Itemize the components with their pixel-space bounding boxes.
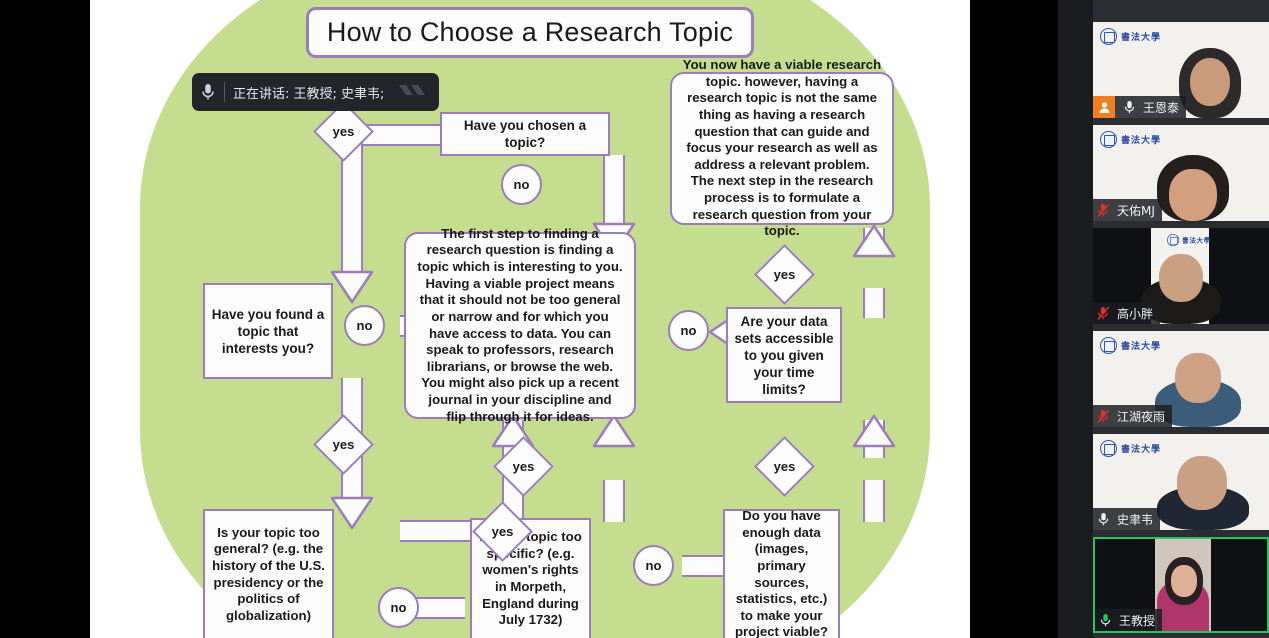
decision-label: yes <box>504 447 543 486</box>
participant-namebar: 王恩泰 <box>1093 96 1186 118</box>
seal-icon <box>1167 234 1179 246</box>
participant-namebar: 江湖夜雨 <box>1093 405 1172 427</box>
participant-face <box>1177 456 1227 510</box>
participant-namebar: 王教授 <box>1095 609 1162 631</box>
node-have-you-chosen-a-topic: Have you chosen a topic? <box>440 112 610 156</box>
active-speaker-overlay: 正在讲话: 王教授; 史聿韦; <box>192 73 439 111</box>
participant-name: 天佑MJ <box>1117 202 1155 219</box>
participant-face <box>1159 254 1203 302</box>
participant-tile[interactable]: 書法大學 史聿韦 <box>1093 434 1269 530</box>
connector-yes-specific-up <box>603 480 625 522</box>
participant-filmstrip[interactable]: 書法大學 王恩泰 書法大學 <box>1058 0 1269 638</box>
decision-label: yes <box>765 447 804 486</box>
microphone-icon[interactable] <box>1093 508 1113 530</box>
seal-icon <box>1100 131 1117 148</box>
logo-text: 書法大學 <box>1121 442 1161 455</box>
sound-wave-icon <box>397 81 431 104</box>
decision-label: yes <box>483 512 522 551</box>
logo-text: 書法大學 <box>1121 339 1161 352</box>
overlay-divider <box>224 82 225 102</box>
decision-label: yes <box>324 112 363 151</box>
microphone-icon[interactable] <box>1119 96 1139 118</box>
connector-datasets-up <box>863 288 885 318</box>
microphone-muted-icon[interactable] <box>1093 199 1113 221</box>
participant-namebar: 史聿韦 <box>1093 508 1160 530</box>
participant-face <box>1175 353 1221 403</box>
decision-no-found-topic: no <box>344 305 385 346</box>
seal-icon <box>1100 28 1117 45</box>
connector-enough-to-yes <box>863 480 885 522</box>
participant-face <box>1171 565 1197 597</box>
host-badge-icon <box>1093 96 1115 118</box>
decision-no-too-specific: no <box>633 545 674 586</box>
decision-label: yes <box>324 425 363 464</box>
participant-name: 王恩泰 <box>1143 99 1179 116</box>
participant-namebar: 天佑MJ <box>1093 199 1162 221</box>
node-are-your-data-sets-accessible: Are your data sets accessible to you giv… <box>726 307 842 403</box>
participant-face <box>1169 169 1217 221</box>
node-first-step-description: The first step to finding a research que… <box>404 232 636 419</box>
university-logo-icon: 書法大學 <box>1100 28 1161 45</box>
decision-label: yes <box>765 255 804 294</box>
participant-tile[interactable]: 書法大學 江湖夜雨 <box>1093 331 1269 427</box>
seal-icon <box>1100 440 1117 457</box>
participant-tile[interactable]: 書法大學 天佑MJ <box>1093 125 1269 221</box>
connector-start-to-no <box>603 155 625 197</box>
university-logo-icon: 書法大學 <box>1167 234 1211 246</box>
arrowhead-enough-yes-up <box>852 414 896 448</box>
seal-icon <box>1100 337 1117 354</box>
shared-screen-region[interactable]: How to Choose a Research Topic Have you … <box>0 0 1058 638</box>
participant-face <box>1190 58 1230 106</box>
microphone-muted-icon[interactable] <box>1093 302 1113 324</box>
participant-name: 高小胖 <box>1117 305 1153 322</box>
arrowhead-to-too-general <box>330 496 374 530</box>
participant-name: 王教授 <box>1119 612 1155 629</box>
node-viable-research-topic: You now have a viable research topic. ho… <box>670 72 894 225</box>
university-logo-icon: 書法大學 <box>1100 131 1161 148</box>
decision-no-data-sets: no <box>668 310 709 351</box>
participant-name: 史聿韦 <box>1117 511 1153 528</box>
logo-text: 書法大學 <box>1121 30 1161 43</box>
logo-text: 書法大學 <box>1121 133 1161 146</box>
microphone-speaking-icon[interactable] <box>1095 609 1115 631</box>
university-logo-icon: 書法大學 <box>1100 440 1161 457</box>
participant-tile[interactable]: 書法大學 高小胖 <box>1093 228 1269 324</box>
microphone-icon <box>200 82 216 102</box>
node-is-your-topic-too-general: Is your topic too general? (e.g. the his… <box>203 509 334 638</box>
participant-tile-active-speaker[interactable]: 王教授 <box>1093 537 1269 633</box>
node-have-you-found-a-topic: Have you found a topic that interests yo… <box>203 283 333 379</box>
decision-no-too-general: no <box>378 587 419 628</box>
participant-namebar: 高小胖 <box>1093 302 1160 324</box>
university-logo-icon: 書法大學 <box>1100 337 1161 354</box>
logo-text: 書法大學 <box>1182 235 1211 244</box>
participant-tile[interactable]: 書法大學 王恩泰 <box>1093 22 1269 118</box>
microphone-muted-icon[interactable] <box>1093 405 1113 427</box>
speaking-names: 正在讲话: 王教授; 史聿韦; <box>233 83 389 102</box>
node-do-you-have-enough-data: Do you have enough data (images, primary… <box>723 509 840 638</box>
slide-title: How to Choose a Research Topic <box>306 7 754 58</box>
filmstrip-inner: 書法大學 王恩泰 書法大學 <box>1093 0 1269 638</box>
meeting-window: How to Choose a Research Topic Have you … <box>0 0 1269 638</box>
arrowhead-to-found-topic <box>330 270 374 304</box>
decision-no-have-you-chosen: no <box>501 164 542 205</box>
participant-name: 江湖夜雨 <box>1117 408 1165 425</box>
